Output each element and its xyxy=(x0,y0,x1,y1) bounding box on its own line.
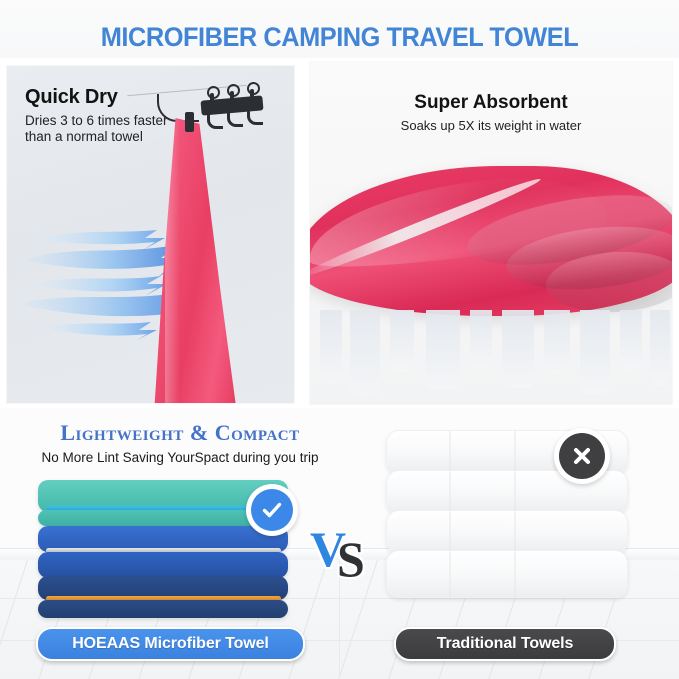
wall-hook-rack-icon xyxy=(193,88,265,122)
white-towel-3 xyxy=(386,510,628,554)
wet-towel-scene xyxy=(310,158,672,404)
x-circle-icon xyxy=(554,428,610,484)
header-banner: MICROFIBER CAMPING TRAVEL TOWEL xyxy=(0,0,679,58)
panel-super-absorbent: Super Absorbent Soaks up 5X its weight i… xyxy=(310,62,672,404)
comparison-section: Lightweight & Compact No More Lint Savin… xyxy=(0,408,679,679)
infographic-page: MICROFIBER CAMPING TRAVEL TOWEL Quick Dr… xyxy=(0,0,679,679)
hoeaas-towel-label: HOEAAS Microfiber Towel xyxy=(36,627,305,661)
quick-dry-title: Quick Dry xyxy=(25,86,168,109)
microfiber-towel-stack xyxy=(38,480,288,616)
super-absorbent-title: Super Absorbent xyxy=(310,92,672,114)
quick-dry-text-block: Quick Dry Dries 3 to 6 times faster than… xyxy=(25,86,168,145)
quick-dry-subtitle-line2: than a normal towel xyxy=(25,129,168,145)
dark-navy-towel xyxy=(38,600,288,618)
white-towel-4 xyxy=(386,550,628,598)
royal-blue-towel xyxy=(38,552,288,578)
super-absorbent-subtitle: Soaks up 5X its weight in water xyxy=(310,118,672,133)
quick-dry-subtitle-line1: Dries 3 to 6 times faster xyxy=(25,113,168,129)
feature-panels: Quick Dry Dries 3 to 6 times faster than… xyxy=(0,58,679,408)
towel-clip-icon xyxy=(185,112,194,132)
page-title: MICROFIBER CAMPING TRAVEL TOWEL xyxy=(20,22,658,53)
wet-pink-towel-image xyxy=(310,166,672,316)
panel-quick-dry: Quick Dry Dries 3 to 6 times faster than… xyxy=(7,66,294,403)
comparison-title: Lightweight & Compact xyxy=(0,420,360,446)
traditional-towel-stack xyxy=(386,430,626,616)
water-drip-icon xyxy=(316,310,672,400)
versus-s: S xyxy=(337,530,365,588)
check-circle-icon xyxy=(246,484,298,536)
traditional-towel-label: Traditional Towels xyxy=(394,627,616,661)
super-absorbent-text-block: Super Absorbent Soaks up 5X its weight i… xyxy=(310,92,672,133)
comparison-subtitle: No More Lint Saving YourSpact during you… xyxy=(0,450,360,465)
versus-badge: V S xyxy=(310,520,384,582)
